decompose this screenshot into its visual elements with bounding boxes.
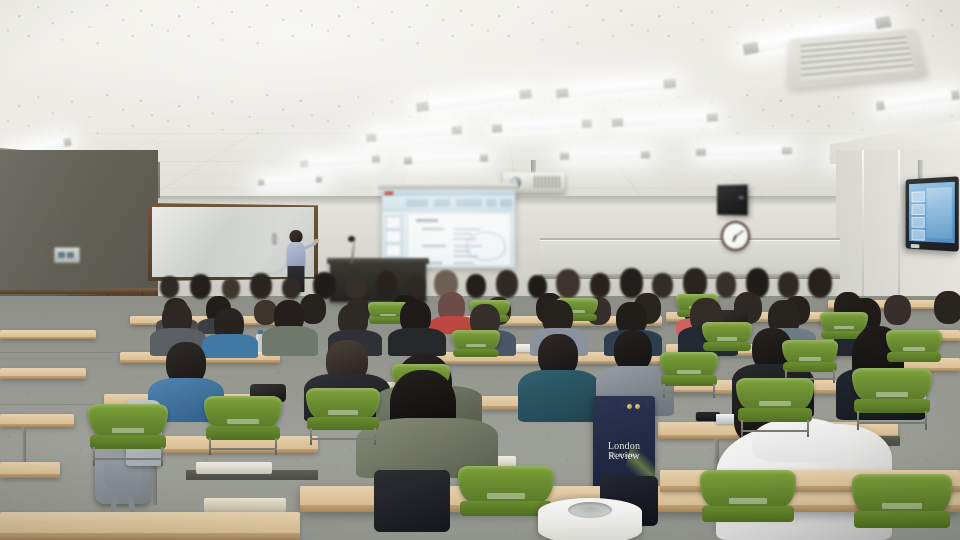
classroom-desk [0,414,74,427]
projected-toolbar [383,196,515,211]
wall-speaker [717,185,747,216]
classroom-chair[interactable] [886,330,942,368]
classroom-chair[interactable] [306,388,380,438]
paper-roll [538,498,642,540]
wall-data-plate [54,247,80,263]
classroom-chair[interactable] [700,470,796,532]
classroom-chair[interactable] [88,404,168,458]
classroom-chair[interactable] [204,396,282,448]
lecture-hall-photo: University lecture hall during class Wid… [0,0,960,540]
monitor-indicator [911,244,920,248]
tote-clip [635,404,640,409]
tote-clip [627,404,632,409]
tote-brand-line2: OF BOOKS [597,454,651,460]
foreground-desk [0,512,300,540]
classroom-desk [0,330,96,339]
classroom-chair[interactable] [852,474,952,538]
microphone [348,236,355,242]
classroom-chair[interactable] [736,378,814,430]
projector-vent [534,176,560,188]
classroom-chair[interactable] [852,368,932,422]
projected-image [383,190,515,268]
projection-screen [382,189,516,269]
classroom-chair[interactable] [782,340,838,378]
bag-on-floor [374,470,450,532]
papers-on-shelf [204,498,286,512]
classroom-desk [0,462,60,478]
wall-monitor[interactable] [906,176,959,251]
papers-on-shelf [196,462,272,474]
clock-center-pin [735,235,737,237]
tote-handle [599,396,625,407]
wall-clock [721,221,750,251]
projected-watermark [466,231,506,261]
monitor-mount-arm [918,160,923,180]
paper-roll-core [568,502,612,518]
classroom-desk [0,368,86,379]
monitor-screen[interactable] [909,182,955,243]
